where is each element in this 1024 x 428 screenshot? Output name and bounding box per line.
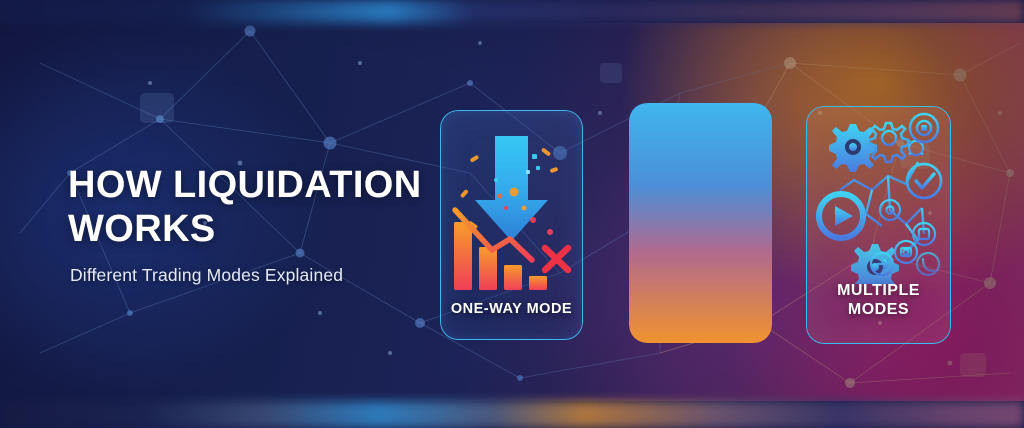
red-cross-icon — [545, 248, 568, 270]
node-phone-icon — [917, 253, 939, 275]
headline-line-1: HOW LIQUIDATION — [68, 164, 422, 206]
card-one-way-label-line-1: ONE-WAY MODE — [451, 301, 572, 317]
card-hedge-label: HEDGE MODE — [629, 276, 772, 316]
bull-head-icon — [647, 122, 693, 180]
card-hedge-label-line-1: HEDGE — [669, 276, 732, 295]
card-hedge-mode[interactable]: HEDGE MODE — [629, 103, 772, 343]
bear-head-icon — [704, 132, 748, 179]
cycle-arrows-icon — [672, 208, 722, 263]
red-down-arrow-icon — [728, 203, 762, 272]
bottom-letterbox-band — [0, 401, 1024, 428]
record-core — [921, 125, 927, 131]
card-multiple-label-line-1: MULTIPLE — [837, 282, 920, 299]
page-title: HOW LIQUIDATION WORKS — [68, 163, 422, 251]
card-multiple-modes[interactable]: MULTIPLE MODES — [806, 106, 951, 344]
multiple-modes-artwork — [806, 106, 951, 284]
headline-line-2: WORKS — [68, 208, 216, 250]
banner-stage: HOW LIQUIDATION WORKS Different Trading … — [0, 23, 1024, 401]
card-one-way-label: ONE-WAY MODE — [440, 301, 583, 318]
green-up-arrow-icon — [640, 207, 674, 275]
card-hedge-label-line-2: MODE — [674, 296, 727, 315]
card-one-way-mode[interactable]: ONE-WAY MODE — [440, 110, 583, 340]
card-multiple-label-line-2: MODES — [848, 301, 909, 318]
gear-core — [849, 143, 857, 151]
descending-bar-chart-icon — [454, 222, 547, 290]
card-multiple-label: MULTIPLE MODES — [806, 281, 951, 319]
gear-outline-icon — [869, 123, 908, 162]
network-nodes-icon — [840, 162, 924, 252]
top-letterbox-band — [0, 0, 1024, 23]
hedge-mode-artwork — [629, 103, 772, 283]
one-way-mode-artwork — [440, 110, 583, 300]
play-button-icon — [819, 194, 863, 238]
liquidation-banner: HOW LIQUIDATION WORKS Different Trading … — [0, 0, 1024, 428]
page-subtitle: Different Trading Modes Explained — [70, 265, 422, 286]
checkmark-circle-icon — [907, 164, 941, 198]
headline-block: HOW LIQUIDATION WORKS Different Trading … — [68, 163, 422, 286]
